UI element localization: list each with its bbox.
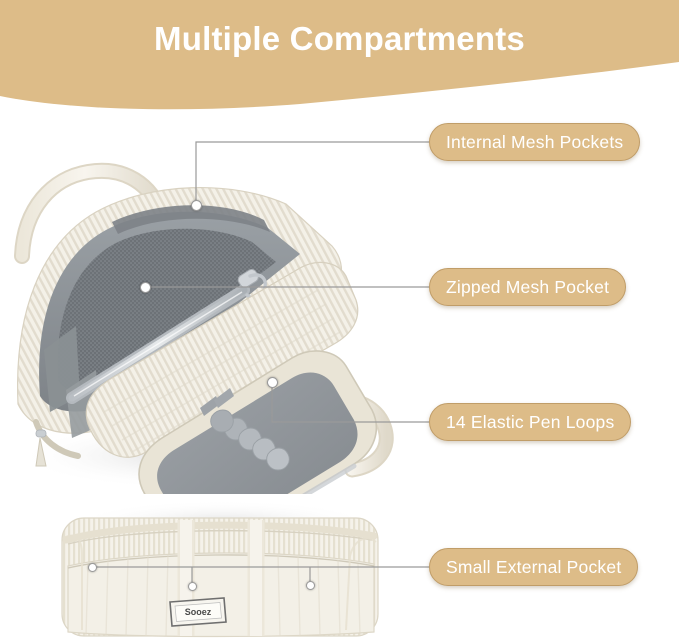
page-title: Multiple Compartments — [0, 20, 679, 58]
callout-label-small-external-pocket[interactable]: Small External Pocket — [429, 548, 638, 586]
hotspot-dot-small-external-pocket-1[interactable] — [88, 563, 97, 572]
hotspot-dot-elastic-pen-loops[interactable] — [267, 377, 278, 388]
hotspot-dot-internal-mesh-pockets[interactable] — [191, 200, 202, 211]
hotspot-dot-zipped-mesh-pocket[interactable] — [140, 282, 151, 293]
hotspot-dot-small-external-pocket-3[interactable] — [306, 581, 315, 590]
header-banner: Multiple Compartments — [0, 0, 679, 112]
product-photo-closed-case: Sooez — [28, 498, 418, 641]
small-external-pocket-panel — [68, 553, 374, 637]
callout-label-internal-mesh-pockets[interactable]: Internal Mesh Pockets — [429, 123, 640, 161]
callout-label-zipped-mesh-pocket[interactable]: Zipped Mesh Pocket — [429, 268, 626, 306]
product-photo-open-case — [0, 104, 410, 494]
callout-label-elastic-pen-loops[interactable]: 14 Elastic Pen Loops — [429, 403, 631, 441]
brand-label-text: Sooez — [185, 607, 212, 617]
infographic-page: Multiple Compartments — [0, 0, 679, 641]
hotspot-dot-small-external-pocket-2[interactable] — [188, 582, 197, 591]
brand-label-patch: Sooez — [170, 598, 226, 626]
